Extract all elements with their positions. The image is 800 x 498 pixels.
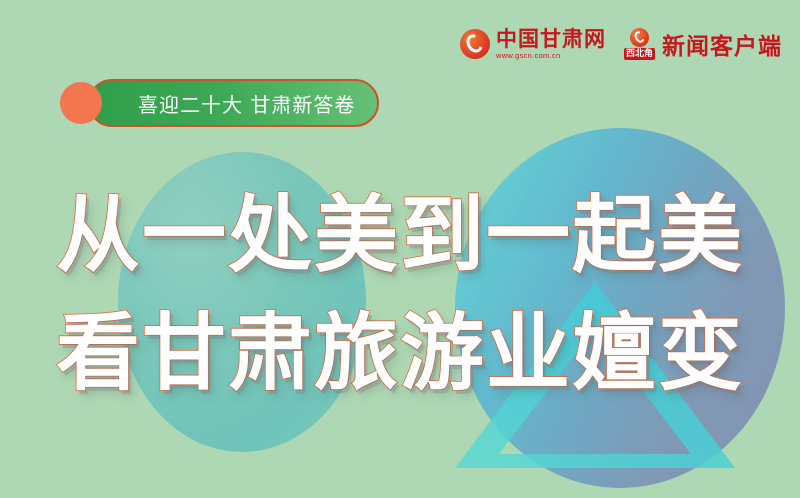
page-title: 从一处美到一起美 看甘肃旅游业嬗变 xyxy=(0,176,800,412)
headline-line-1: 从一处美到一起美 xyxy=(0,176,800,294)
headline-line-2: 看甘肃旅游业嬗变 xyxy=(0,294,800,412)
campaign-badge-pill: 喜迎二十大 甘肃新答卷 xyxy=(88,79,379,127)
gscn-swoosh-icon xyxy=(460,29,490,59)
gscn-logo-text: 中国甘肃网 www.gscn.com.cn xyxy=(496,29,606,60)
xibeijiao-seal-block: 西北角 xyxy=(624,28,655,60)
xibeijiao-logo[interactable]: 西北角 新闻客户端 xyxy=(624,27,782,61)
gscn-logo[interactable]: 中国甘肃网 www.gscn.com.cn xyxy=(460,29,606,60)
campaign-badge-dot xyxy=(60,82,102,124)
xibeijiao-drop-icon xyxy=(630,28,649,47)
campaign-badge-label: 喜迎二十大 甘肃新答卷 xyxy=(138,89,355,118)
logo-bar: 中国甘肃网 www.gscn.com.cn 西北角 新闻客户端 xyxy=(460,22,782,66)
gscn-logo-name: 中国甘肃网 xyxy=(496,29,606,50)
gscn-logo-url: www.gscn.com.cn xyxy=(496,52,606,60)
poster-canvas: 中国甘肃网 www.gscn.com.cn 西北角 新闻客户端 喜迎二十大 甘肃… xyxy=(0,0,800,498)
xibeijiao-seal-text: 西北角 xyxy=(624,48,655,60)
news-client-label: 新闻客户端 xyxy=(662,27,782,61)
